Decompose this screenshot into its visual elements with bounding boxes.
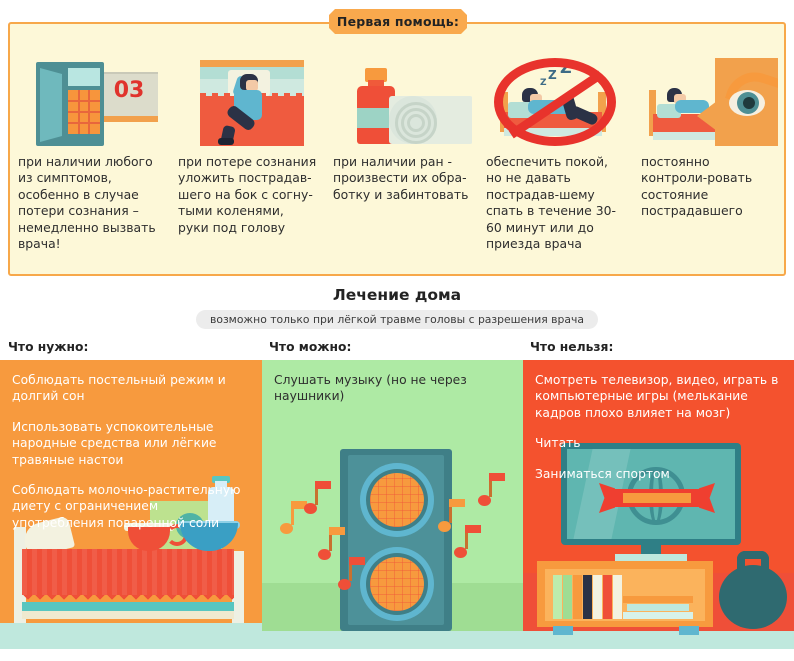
column-head-can: Что можно: [269, 340, 351, 354]
first-aid-item-3: при наличии ран - произвести их обра-бот… [325, 24, 478, 274]
need-line-3: Соблюдать молочно-растительную диету с о… [12, 482, 250, 531]
column-can-text: Слушать музыку (но не через наушники) [274, 372, 511, 419]
first-aid-item-5: постоянно контроли-ровать состояние пост… [633, 24, 784, 274]
column-need: Соблюдать постельный режим и долгий сон … [0, 360, 262, 649]
home-treatment-columns: Соблюдать постельный режим и долгий сон … [0, 360, 794, 649]
column-can: Слушать музыку (но не через наушники) [262, 360, 523, 649]
first-aid-item-4: Z Z Z обеспечить покой, но не давать пос… [478, 24, 633, 274]
column-need-text: Соблюдать постельный режим и долгий сон … [12, 372, 250, 545]
first-aid-item-1: 03 при наличии любого из симптомов, особ… [10, 24, 170, 274]
eye-watching-patient-icon [641, 54, 778, 146]
column-cant: Смотреть телевизор, видео, играть в комп… [523, 360, 794, 649]
column-cant-text: Смотреть телевизор, видео, играть в комп… [535, 372, 782, 496]
need-line-1: Соблюдать постельный режим и долгий сон [12, 372, 250, 405]
home-treatment-subtitle: возможно только при лёгкой травме головы… [196, 310, 598, 329]
column-head-need: Что нужно: [8, 340, 88, 354]
first-aid-item-2: при потере сознания уложить пострадав-ше… [170, 24, 325, 274]
cant-line-1: Смотреть телевизор, видео, играть в комп… [535, 372, 782, 421]
first-aid-columns: 03 при наличии любого из симптомов, особ… [10, 24, 784, 274]
no-sleeping-prohibition-icon: Z Z Z [486, 54, 627, 146]
home-treatment-subtitle-wrap: возможно только при лёгкой травме головы… [0, 308, 794, 329]
first-aid-text-3: при наличии ран - произвести их обра-бот… [333, 154, 470, 203]
first-aid-badge: Первая помощь: [329, 9, 467, 34]
home-treatment-title: Лечение дома [0, 286, 794, 304]
calendar-number: 03 [104, 78, 154, 103]
home-treatment-header: Лечение дома возможно только при лёгкой … [0, 286, 794, 336]
antiseptic-bottle-bandage-icon [333, 54, 472, 146]
telephone-calendar-icon: 03 [18, 54, 164, 146]
person-lying-on-side-icon [178, 54, 319, 146]
cant-line-2: Читать [535, 435, 782, 451]
column-head-cant: Что нельзя: [530, 340, 613, 354]
first-aid-text-4: обеспечить покой, но не давать пострадав… [486, 154, 625, 252]
first-aid-panel: 03 при наличии любого из симптомов, особ… [8, 22, 786, 276]
can-line-1: Слушать музыку (но не через наушники) [274, 372, 511, 405]
first-aid-text-5: постоянно контроли-ровать состояние пост… [641, 154, 776, 220]
first-aid-text-2: при потере сознания уложить пострадав-ше… [178, 154, 317, 236]
first-aid-text-1: при наличии любого из симптомов, особенн… [18, 154, 162, 252]
need-line-2: Использовать успокоительные народные сре… [12, 419, 250, 468]
cant-line-3: Заниматься спортом [535, 466, 782, 482]
